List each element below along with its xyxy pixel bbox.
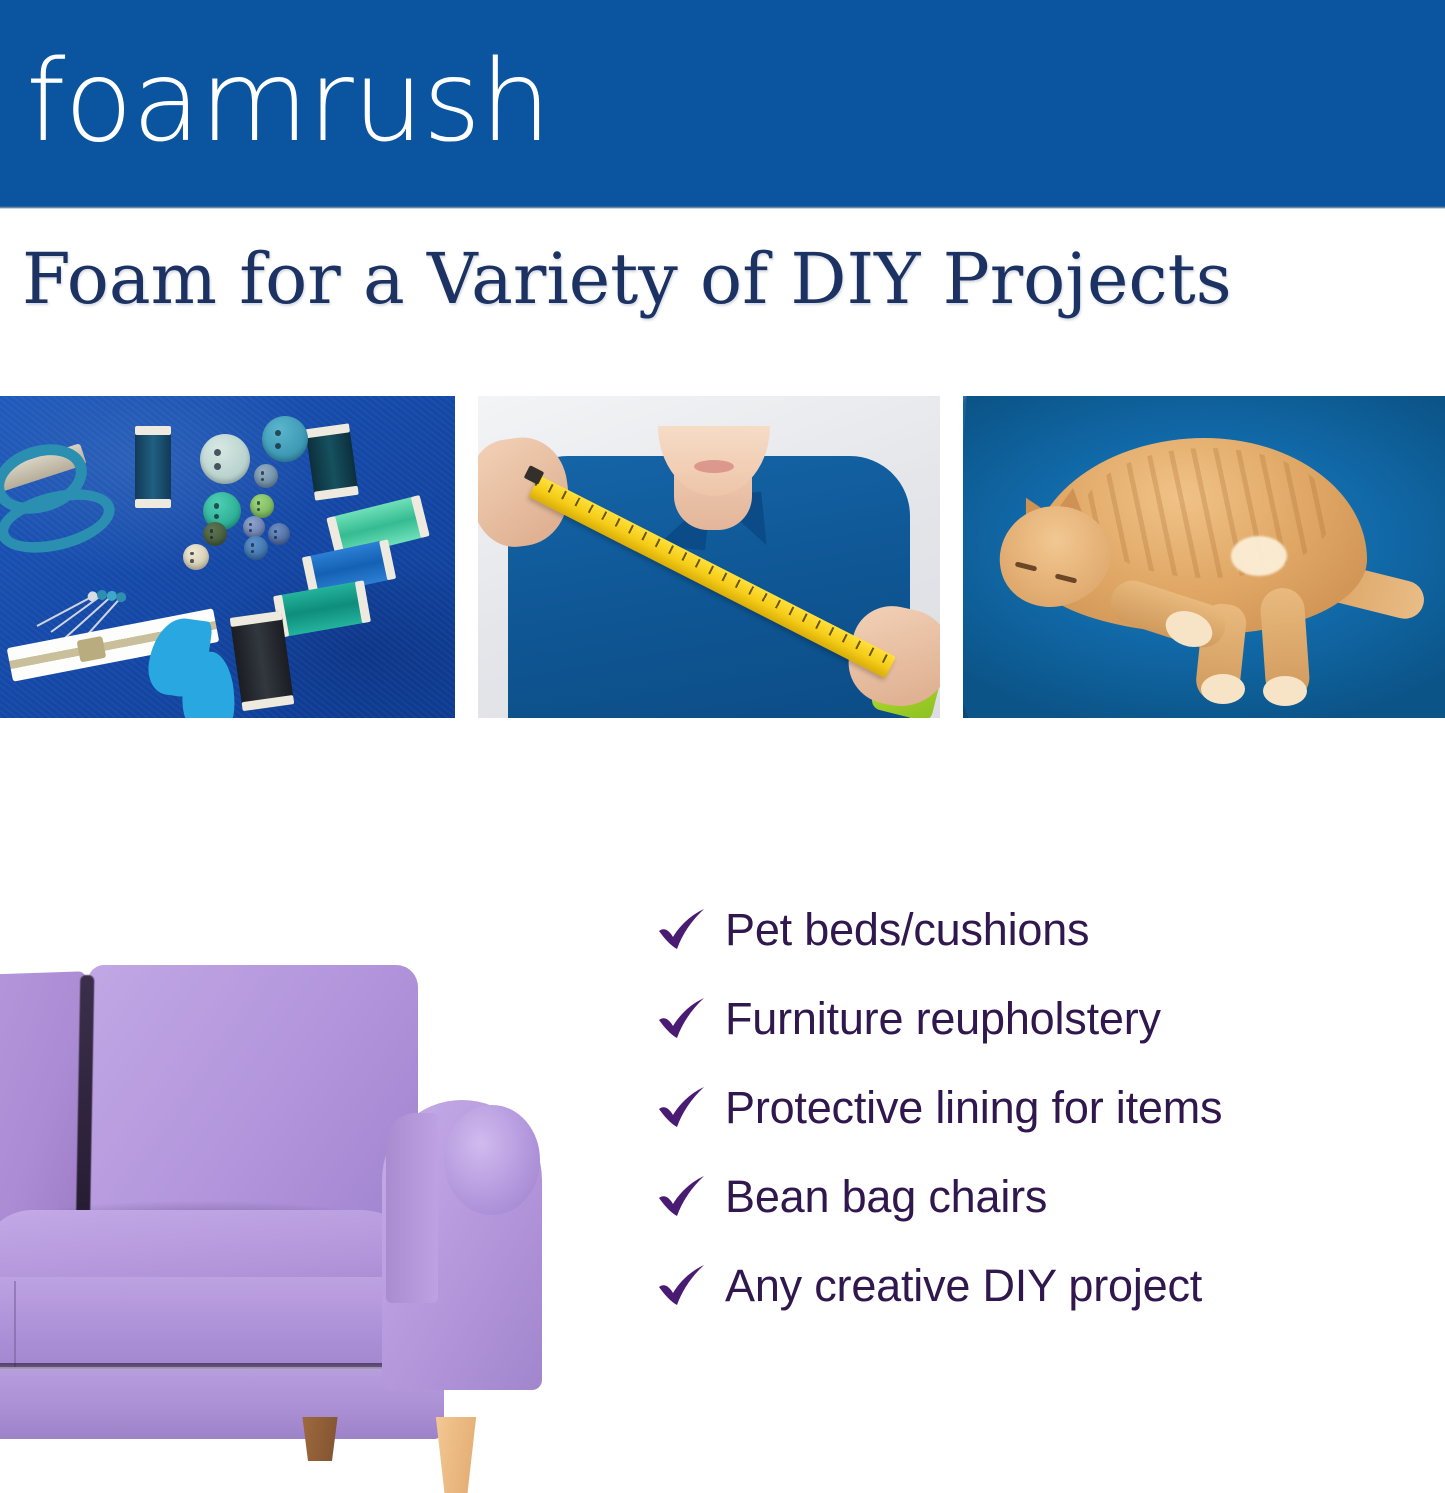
- list-item-label: Furniture reupholstery: [725, 995, 1161, 1042]
- list-item-label: Pet beds/cushions: [725, 906, 1089, 953]
- button-small-green: [250, 494, 274, 518]
- cat-fur-stripes: [1083, 448, 1333, 578]
- button-small-cream: [183, 544, 209, 570]
- sofa-leg-back: [300, 1417, 340, 1461]
- check-icon: [655, 996, 725, 1042]
- cat-bean-bag-photo: [963, 396, 1445, 718]
- list-item: Pet beds/cushions: [655, 885, 1415, 974]
- check-icon: [655, 1174, 725, 1220]
- page-title: Foam for a Variety of DIY Projects: [22, 244, 1423, 314]
- sofa-leg-front: [432, 1417, 480, 1493]
- button-small-olive: [203, 522, 227, 546]
- button-large-teal: [262, 416, 308, 462]
- cat-paw-rear: [1201, 674, 1245, 704]
- button-large-pale: [200, 434, 250, 484]
- thread-spool-navy-upright: [135, 426, 171, 508]
- list-item: Any creative DIY project: [655, 1241, 1415, 1330]
- list-item: Protective lining for items: [655, 1063, 1415, 1152]
- button-small-slate: [254, 464, 278, 488]
- photo-strip: [0, 396, 1445, 718]
- list-item: Bean bag chairs: [655, 1152, 1415, 1241]
- sofa-back-cushion-left: [0, 971, 86, 1225]
- purple-sofa-illustration: [0, 965, 562, 1445]
- button-small-blue: [244, 536, 268, 560]
- sofa-seat-cushion: [0, 1277, 434, 1367]
- button-small-indigo: [268, 523, 290, 545]
- tape-measure-photo: [478, 396, 940, 718]
- benefits-list: Pet beds/cushions Furniture reupholstery…: [655, 885, 1415, 1330]
- sofa-seat-seam: [14, 1281, 16, 1367]
- list-item-label: Bean bag chairs: [725, 1173, 1047, 1220]
- list-item-label: Protective lining for items: [725, 1084, 1222, 1131]
- sofa-rolled-arm: [444, 1105, 540, 1215]
- sofa-back-cushion-right: [88, 965, 418, 1223]
- sofa-arm-inner-panel: [386, 1113, 438, 1303]
- list-item: Furniture reupholstery: [655, 974, 1415, 1063]
- check-icon: [655, 1263, 725, 1309]
- sewing-supplies-photo: [0, 396, 455, 718]
- zipper-pull: [77, 636, 107, 663]
- check-icon: [655, 907, 725, 953]
- lips: [694, 460, 734, 473]
- brand-banner: foamrush: [0, 0, 1445, 208]
- list-item-label: Any creative DIY project: [725, 1262, 1202, 1309]
- button-small-periwinkle: [243, 516, 265, 538]
- brand-logo: foamrush: [26, 46, 550, 158]
- cat-paw-hind: [1263, 676, 1307, 706]
- sofa-seat-top: [0, 1210, 430, 1286]
- cat-belly-patch: [1231, 536, 1287, 576]
- banner-bottom-edge: [0, 206, 1445, 209]
- sofa-base: [0, 1369, 444, 1439]
- check-icon: [655, 1085, 725, 1131]
